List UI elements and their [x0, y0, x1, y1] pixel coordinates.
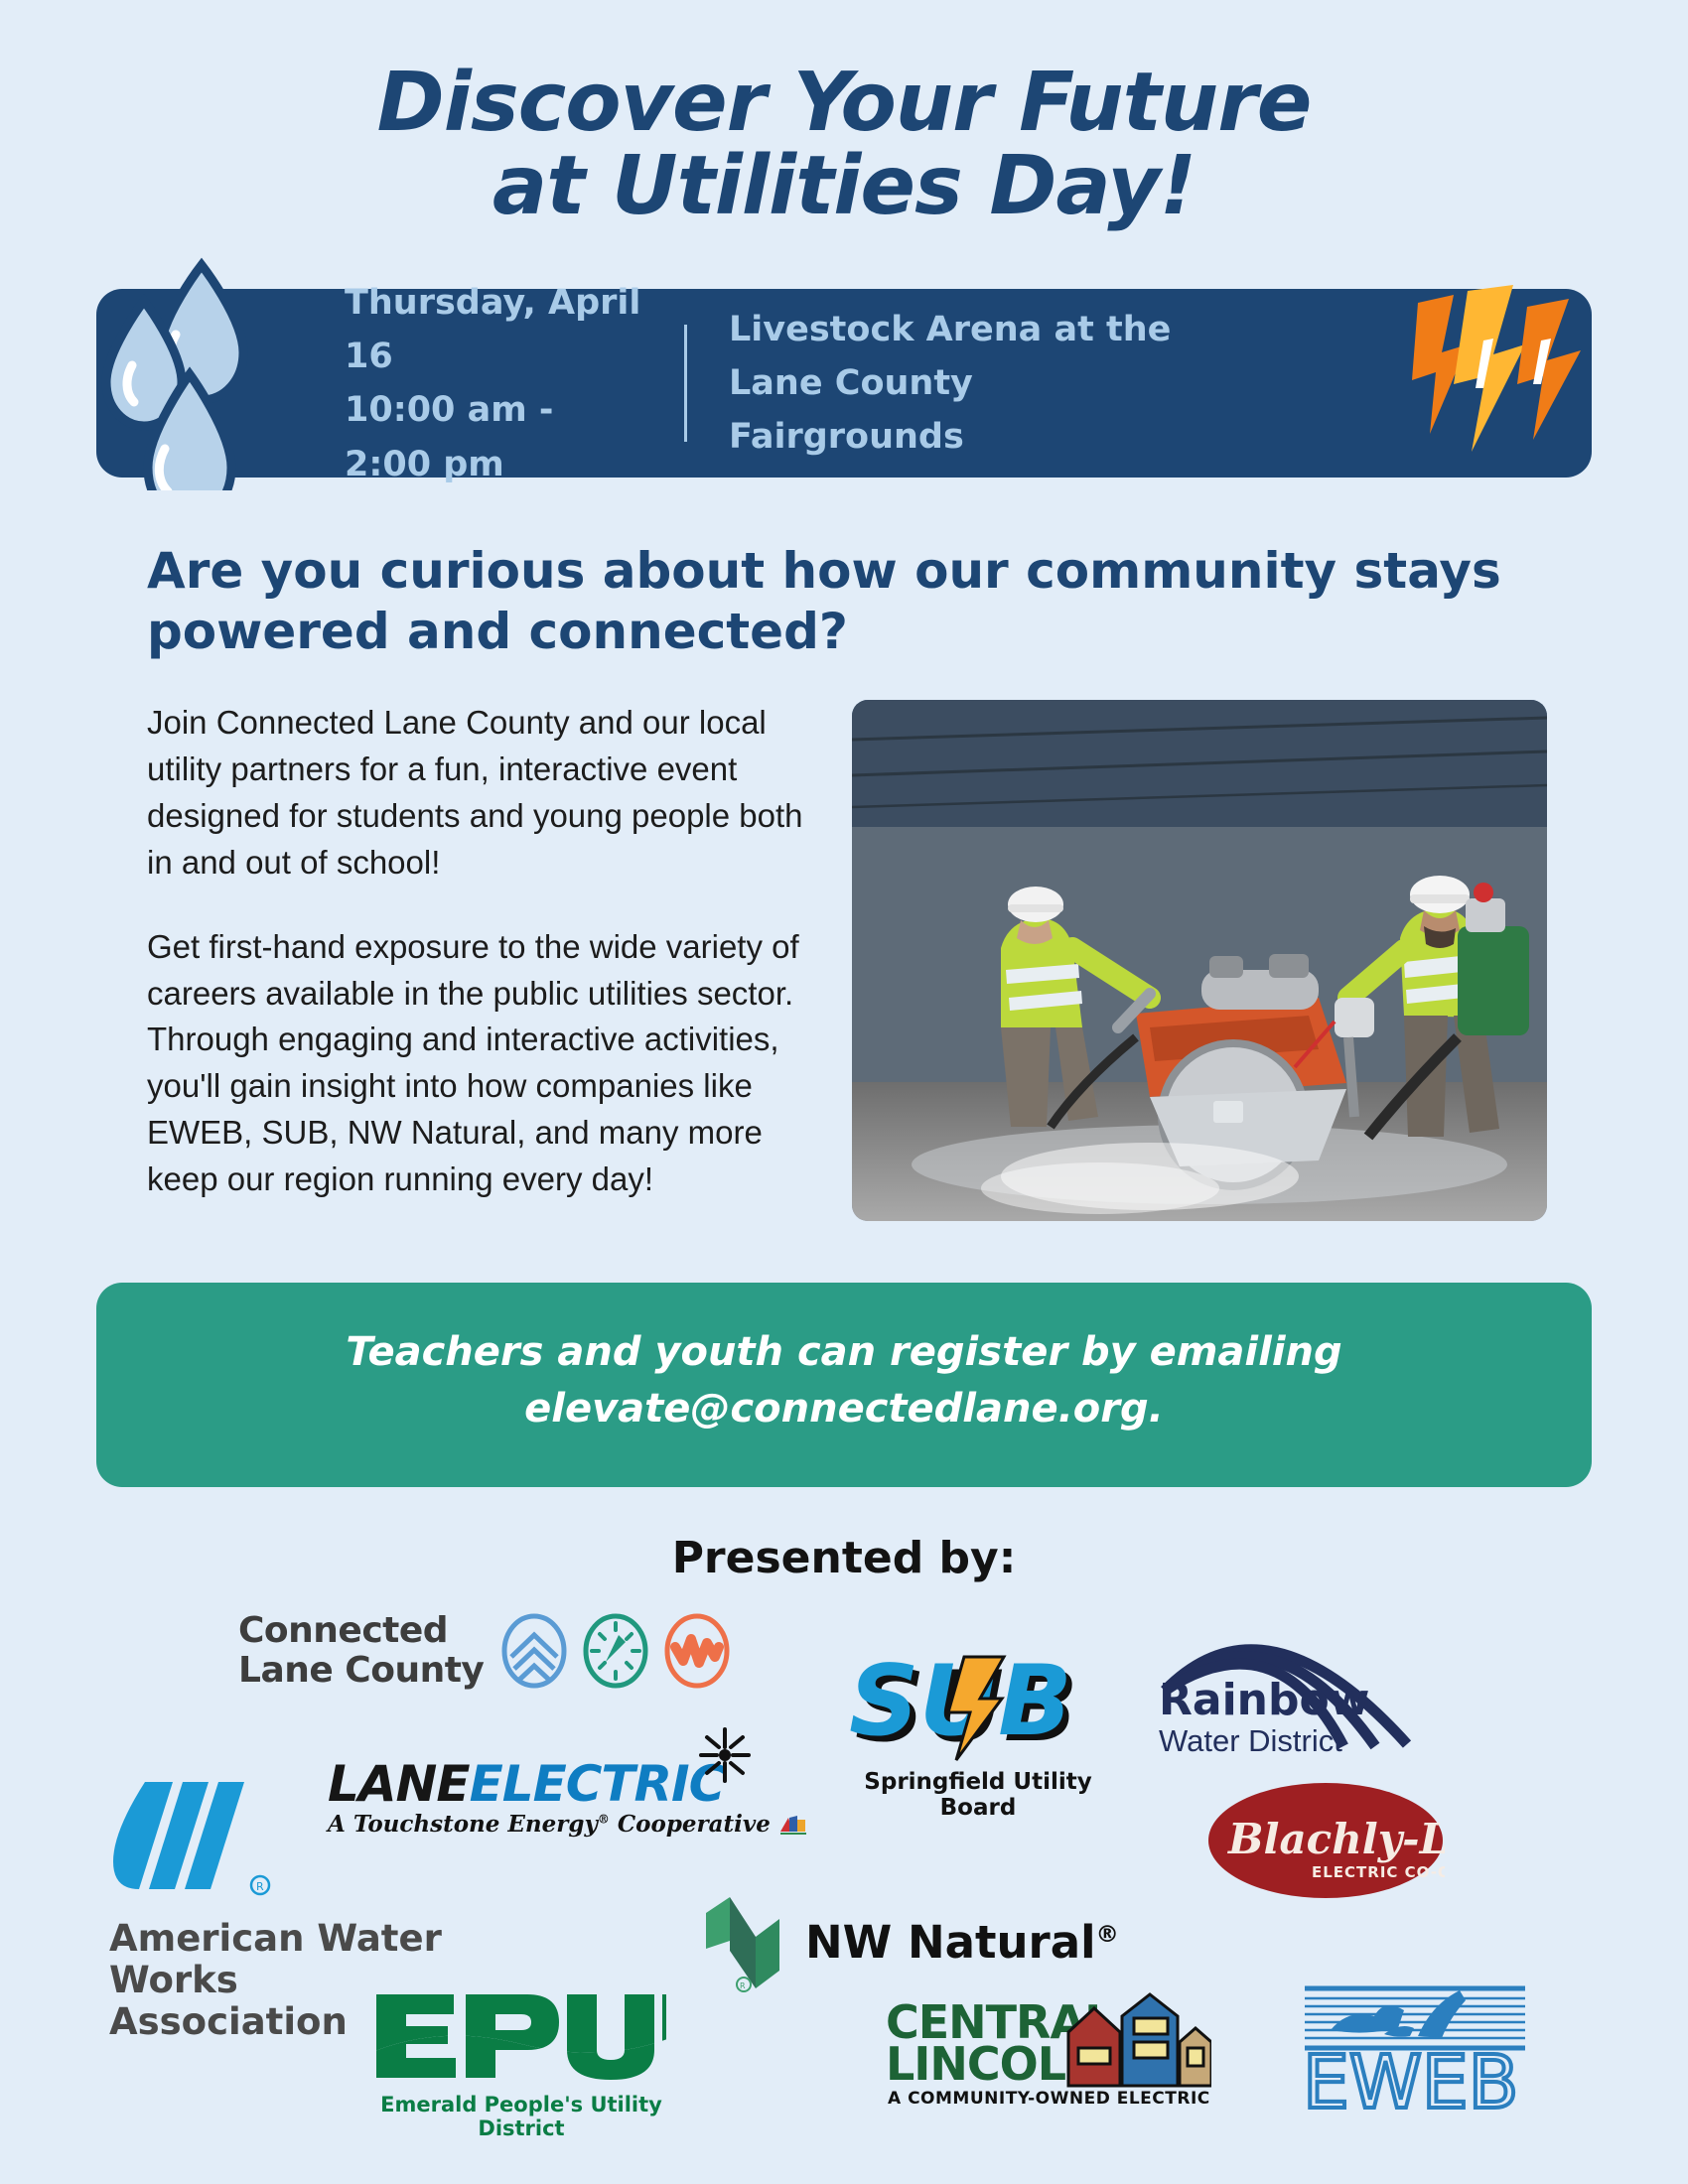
sub-wordmark-icon: SUB SUB	[849, 1655, 1107, 1766]
section-headline: Are you curious about how our community …	[147, 541, 1507, 662]
central-caption: A COMMUNITY-OWNED ELECTRIC UTILITY	[888, 2089, 1211, 2108]
title-line-2: at Utilities Day!	[0, 145, 1688, 228]
svg-text:R: R	[256, 1880, 264, 1893]
svg-text:ELECTRIC CO-OP: ELECTRIC CO-OP	[1312, 1863, 1445, 1881]
cta-line-1: Teachers and youth can register by email…	[156, 1324, 1532, 1381]
cta-line-2[interactable]: elevate@connectedlane.org.	[156, 1381, 1532, 1437]
rainbow-line-1: Rainbow	[1159, 1679, 1369, 1722]
logo-central-lincoln: CENTRAL LINCOLN A COMMUNITY-OWNED ELECTR…	[884, 1990, 1211, 2113]
lightning-bolts-decoration	[1410, 285, 1589, 464]
nw-natural-mark-icon: R	[700, 1893, 789, 1992]
presented-by-label: Presented by:	[0, 1533, 1688, 1583]
logo-springfield-utility-board: SUB SUB Springfield Utility Board	[849, 1655, 1107, 1821]
title-line-1: Discover Your Future	[377, 56, 1312, 150]
logo-blachly-lane-electric-coop: Blachly-Lane ELECTRIC CO-OP	[1206, 1776, 1445, 1910]
paragraph-2: Get first-hand exposure to the wide vari…	[147, 924, 822, 1203]
epud-wordmark-icon	[372, 1992, 670, 2086]
lane-word-1: LANE	[328, 1755, 470, 1813]
logo-rainbow-water-district: Rainbow Water District	[1147, 1595, 1465, 1769]
body-copy: Join Connected Lane County and our local…	[147, 700, 822, 1221]
awwa-droplet-icon: R	[109, 1774, 278, 1903]
rainbow-line-2: Water District	[1159, 1722, 1369, 1761]
blachly-lane-badge-icon: Blachly-Lane ELECTRIC CO-OP	[1206, 1776, 1445, 1905]
event-photo	[852, 700, 1547, 1221]
content-row: Join Connected Lane County and our local…	[147, 700, 1688, 1221]
event-venue: Livestock Arena at the Lane County Fairg…	[729, 303, 1205, 465]
logo-eweb: EWEB	[1301, 1984, 1529, 2118]
compass-circle-icon	[583, 1613, 648, 1689]
logo-lane-electric: LANEELECTRIC A Touchstone Energy® Cooper…	[328, 1759, 745, 1838]
blachly-script: Blachly-Lane	[1227, 1815, 1445, 1863]
nwn-text: NW Natural	[805, 1916, 1096, 1969]
epud-caption: Emerald People's Utility District	[372, 2093, 670, 2140]
registration-callout: Teachers and youth can register by email…	[96, 1283, 1592, 1487]
clc-line-1: Connected	[238, 1611, 484, 1651]
lane-tagline-2: Cooperative	[618, 1811, 771, 1838]
svg-text:R: R	[740, 1981, 746, 1990]
page-title: Discover Your Future at Utilities Day!	[0, 0, 1688, 227]
touchstone-energy-icon	[778, 1814, 808, 1836]
eweb-logo-icon: EWEB	[1301, 1984, 1529, 2114]
lane-word-2: ELECTRIC	[470, 1755, 725, 1813]
event-date: Thursday, April 16	[345, 276, 642, 384]
paragraph-1: Join Connected Lane County and our local…	[147, 700, 822, 886]
event-banner: Thursday, April 16 10:00 am - 2:00 pm Li…	[96, 289, 1592, 478]
central-lincoln-mark-icon: CENTRAL LINCOLN A COMMUNITY-OWNED ELECTR…	[884, 1990, 1211, 2108]
logo-nw-natural: R NW Natural®	[700, 1893, 1119, 1992]
banner-divider	[684, 325, 687, 442]
sub-caption: Springfield Utility Board	[849, 1769, 1107, 1821]
venue-line-2: Lane County Fairgrounds	[729, 356, 1205, 465]
lightning-bolt-icon	[1517, 299, 1581, 440]
eweb-wordmark: EWEB	[1303, 2040, 1518, 2114]
event-time: 10:00 am - 2:00 pm	[345, 383, 642, 491]
lane-tagline: A Touchstone Energy	[328, 1811, 598, 1838]
logo-connected-lane-county: Connected Lane County	[238, 1611, 730, 1692]
wave-circle-icon	[664, 1613, 730, 1689]
logo-emerald-peoples-utility-district: Emerald People's Utility District	[372, 1992, 670, 2140]
chevron-circle-icon	[501, 1613, 567, 1689]
venue-line-1: Livestock Arena at the	[729, 303, 1205, 356]
starburst-icon	[693, 1725, 757, 1785]
event-datetime: Thursday, April 16 10:00 am - 2:00 pm	[345, 276, 642, 491]
lightning-bolt-icon	[1454, 285, 1525, 452]
sponsor-logos: Connected Lane County	[0, 1595, 1688, 2151]
water-droplets-decoration	[94, 257, 308, 490]
clc-line-2: Lane County	[238, 1651, 484, 1691]
event-banner-wrapper: Thursday, April 16 10:00 am - 2:00 pm Li…	[0, 257, 1688, 446]
awwa-line-1: American Water Works	[109, 1918, 526, 2001]
